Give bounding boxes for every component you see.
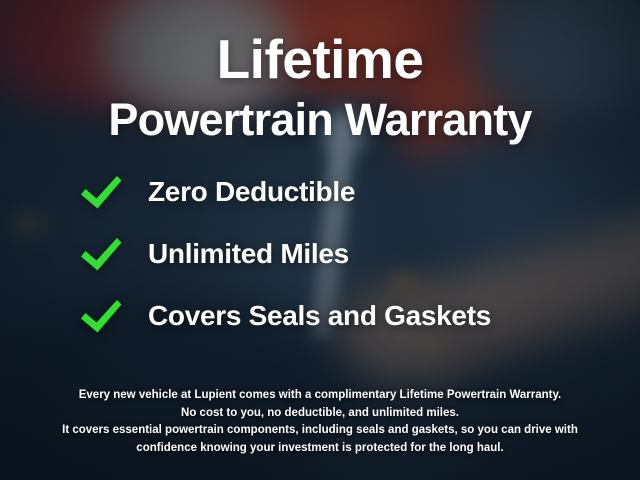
feature-list: Zero Deductible Unlimited Miles Covers S… [0,170,640,338]
disclaimer-text: Every new vehicle at Lupient comes with … [0,387,640,458]
lifetime-powertrain-warranty-banner: Lifetime Powertrain Warranty Zero Deduct… [0,0,640,480]
check-icon [78,234,124,274]
disclaimer-line-3: It covers essential powertrain component… [26,422,614,440]
disclaimer-line-1: Every new vehicle at Lupient comes with … [26,387,614,405]
check-icon [78,172,124,212]
feature-label: Covers Seals and Gaskets [148,300,491,332]
check-icon [78,296,124,336]
disclaimer-line-4: confidence knowing your investment is pr… [26,440,614,458]
headline-line-1: Lifetime [0,32,640,87]
banner-content: Lifetime Powertrain Warranty Zero Deduct… [0,0,640,480]
feature-item-covers-seals-and-gaskets: Covers Seals and Gaskets [78,294,640,338]
feature-item-unlimited-miles: Unlimited Miles [78,232,640,276]
feature-label: Zero Deductible [148,176,355,208]
feature-label: Unlimited Miles [148,238,349,270]
headline-line-2: Powertrain Warranty [0,97,640,142]
disclaimer-line-2: No cost to you, no deductible, and unlim… [26,405,614,423]
feature-item-zero-deductible: Zero Deductible [78,170,640,214]
